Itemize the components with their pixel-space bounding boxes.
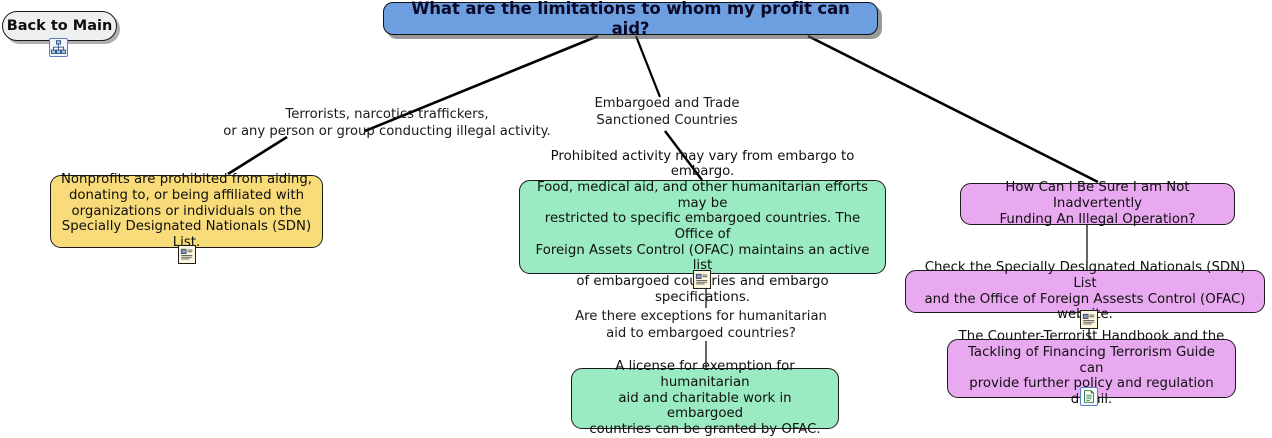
node-license-exemption[interactable]: A license for exemption for humanitarian… (571, 368, 839, 429)
back-to-main-label: Back to Main (7, 18, 113, 34)
note-icon[interactable] (178, 245, 196, 264)
node-check-sdn-ofac[interactable]: Check the Specially Designated Nationals… (905, 270, 1265, 313)
node-prohibited-activity[interactable]: Prohibited activity may vary from embarg… (519, 180, 886, 274)
node-how-can-i-be-sure-label: How Can I Be Sure I am Not Inadvertently… (969, 180, 1226, 227)
mindmap-icon[interactable] (49, 38, 68, 57)
mindmap-canvas: Back to Main What are the limitations to… (0, 0, 1272, 431)
document-icon[interactable] (1080, 387, 1098, 406)
back-to-main-button[interactable]: Back to Main (2, 11, 117, 41)
edge-label-embargoed: Embargoed and Trade Sanctioned Countries (578, 96, 756, 130)
edge-label-exceptions: Are there exceptions for humanitarian ai… (556, 309, 846, 343)
root-node[interactable]: What are the limitations to whom my prof… (383, 2, 878, 35)
note-icon[interactable] (693, 270, 711, 289)
note-icon[interactable] (1080, 310, 1098, 329)
node-how-can-i-be-sure[interactable]: How Can I Be Sure I am Not Inadvertently… (960, 183, 1235, 225)
node-license-exemption-label: A license for exemption for humanitarian… (580, 359, 830, 437)
node-sdn-list[interactable]: Nonprofits are prohibited from aiding, d… (50, 175, 323, 248)
edge-label-terrorists: Terrorists, narcotics traffickers, or an… (222, 107, 552, 141)
root-node-label: What are the limitations to whom my prof… (392, 0, 869, 38)
node-sdn-list-label: Nonprofits are prohibited from aiding, d… (59, 172, 314, 250)
